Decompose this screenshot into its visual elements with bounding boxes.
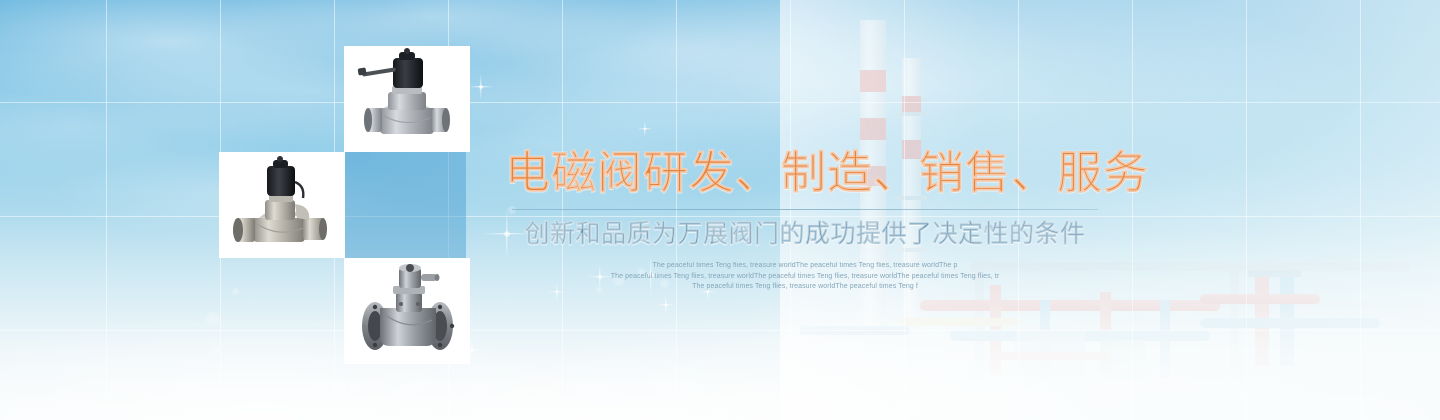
product-photo-solenoid-valve-threaded-angled[interactable] xyxy=(219,152,345,258)
blue-accent-tile xyxy=(344,152,466,260)
banner-headline: 电磁阀研发、制造、销售、服务 xyxy=(505,146,1105,200)
promo-banner: 电磁阀研发、制造、销售、服务 创新和品质为万展阀门的成功提供了决定性的条件 Th… xyxy=(0,0,1440,420)
product-photo-solenoid-valve-threaded-black-coil[interactable] xyxy=(344,46,470,152)
banner-subheadline: 创新和品质为万展阀门的成功提供了决定性的条件 xyxy=(505,219,1105,249)
banner-text-block: 电磁阀研发、制造、销售、服务 创新和品质为万展阀门的成功提供了决定性的条件 Th… xyxy=(505,146,1105,293)
banner-english-paragraph: The peaceful times Teng flies, treasure … xyxy=(505,261,1105,293)
english-line-2: The peaceful times Teng flies, treasure … xyxy=(505,272,1105,283)
product-photo-solenoid-valve-flanged[interactable] xyxy=(344,258,470,364)
headline-divider xyxy=(512,209,1098,210)
english-line-3: The peaceful times Teng flies, treasure … xyxy=(505,282,1105,293)
english-line-1: The peaceful times Teng flies, treasure … xyxy=(505,261,1105,272)
